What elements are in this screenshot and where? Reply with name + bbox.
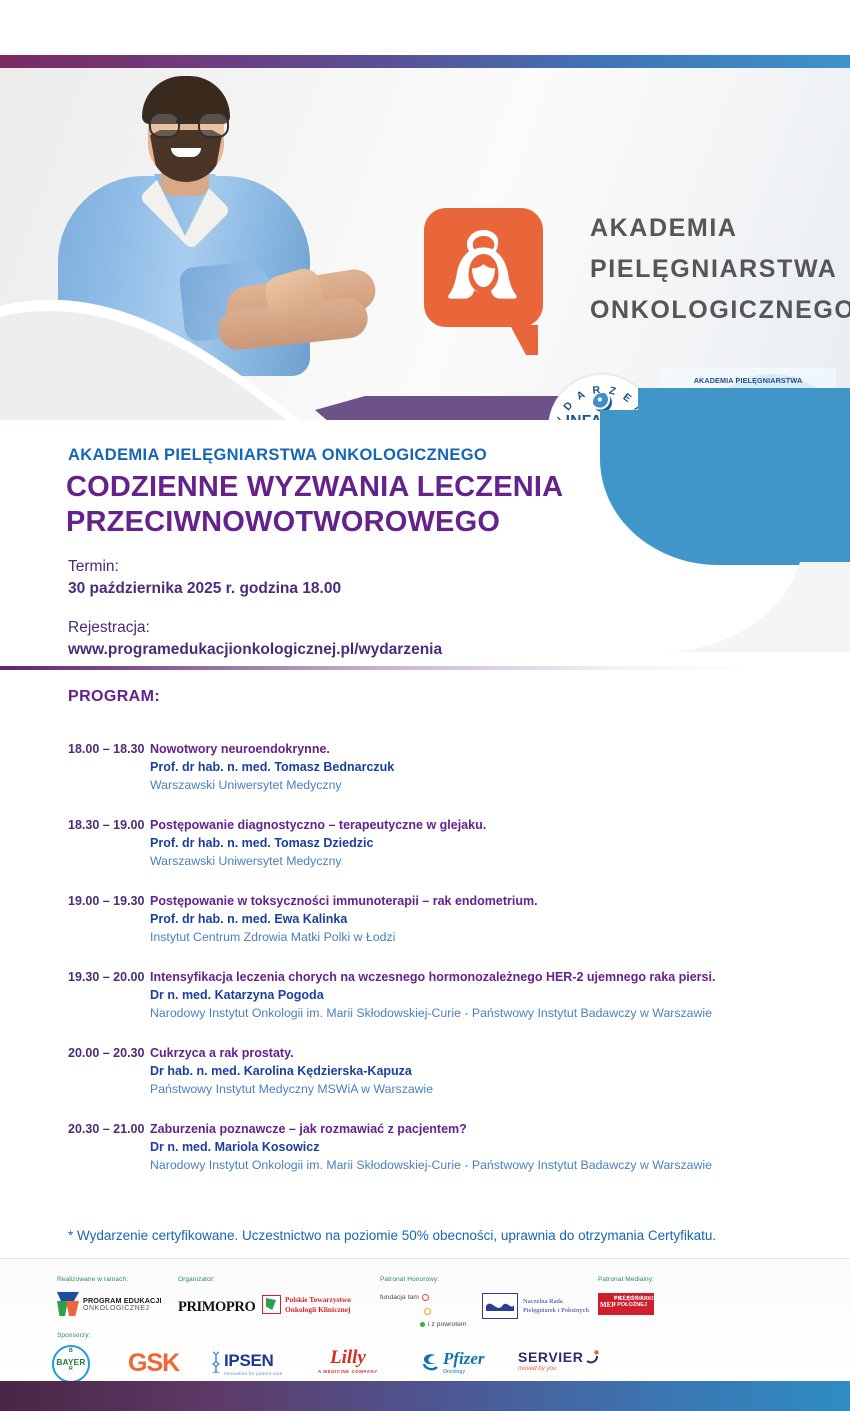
- logo-magazyn-pielegniarki: MEP M A G A Z Y N PIELĘGNIARKI I POŁOŻNE…: [598, 1293, 654, 1315]
- agenda-row: 20.30 – 21.00 Zaburzenia poznawcze – jak…: [0, 1120, 850, 1174]
- footer-partners: Realizowane w ramach: Organizator: Patro…: [0, 1259, 850, 1381]
- bottom-gradient-bar: [0, 1381, 850, 1411]
- sponsor-gsk: GSK: [128, 1349, 179, 1378]
- agenda-topic: Intensyfikacja leczenia chorych na wczes…: [150, 968, 836, 986]
- sponsor-lilly: Lilly A MEDICINE COMPANY: [318, 1347, 378, 1374]
- bayer-top-letter: B: [69, 1349, 73, 1355]
- ipsen-tagline: Innovation for patient care: [224, 1371, 283, 1376]
- nurse-glyph-icon: [424, 208, 543, 327]
- ptok-mark-icon: [262, 1295, 281, 1314]
- servier-swoosh-icon: [586, 1350, 600, 1365]
- hero-banner: AKADEMIA PIELĘGNIARSTWA ONKOLOGICZNEGO A…: [0, 68, 850, 420]
- agenda-topic: Nowotwory neuroendokrynne.: [150, 740, 836, 758]
- event-headline: CODZIENNE WYZWANIA LECZENIA PRZECIWNOWOT…: [66, 470, 706, 540]
- agenda-time: 18.30 – 19.00: [0, 816, 150, 870]
- certification-footnote: * Wydarzenie certyfikowane. Uczestnictwo…: [68, 1228, 716, 1243]
- speech-bubble-tail-icon: [510, 325, 538, 355]
- fundacja-dot-red-icon: [422, 1294, 429, 1301]
- logo-program-edukacji-onkologicznej: PROGRAM EDUKACJI ONKOLOGICZNEJ: [57, 1292, 162, 1316]
- program-heading: PROGRAM:: [68, 688, 160, 706]
- agenda-speaker: Prof. dr hab. n. med. Ewa Kalinka: [150, 910, 836, 928]
- event-eyebrow: AKADEMIA PIELĘGNIARSTWA ONKOLOGICZNEGO: [68, 446, 487, 465]
- registration-label: Rejestracja:: [68, 617, 708, 639]
- agenda-affiliation: Instytut Centrum Zdrowia Matki Polki w Ł…: [150, 928, 836, 946]
- nurse-speech-bubble-icon: [424, 208, 543, 327]
- date-label: Termin:: [68, 556, 708, 578]
- caption-honorary: Patronat Honorowy:: [380, 1276, 439, 1283]
- agenda-speaker: Dr n. med. Katarzyna Pogoda: [150, 986, 836, 1004]
- caption-framework: Realizowane w ramach:: [57, 1276, 128, 1283]
- agenda-topic: Postępowanie diagnostyczno – terapeutycz…: [150, 816, 836, 834]
- bayer-bottom-letter: R: [69, 1367, 73, 1373]
- agenda-affiliation: Narodowy Instytut Onkologii im. Marii Sk…: [150, 1156, 836, 1174]
- agenda-affiliation: Warszawski Uniwersytet Medyczny: [150, 852, 836, 870]
- fundacja-dot-yellow-icon: [424, 1308, 431, 1315]
- logo-naczelna-rada: Naczelna Rada Pielęgniarek i Położnych: [482, 1293, 589, 1319]
- agenda-time: 19.00 – 19.30: [0, 892, 150, 946]
- brand-title-line-2: PIELĘGNIARSTWA: [590, 249, 850, 290]
- logo-primopro: PRIMOPRO: [178, 1299, 255, 1316]
- agenda-time: 18.00 – 18.30: [0, 740, 150, 794]
- agenda-speaker: Dr n. med. Mariola Kosowicz: [150, 1138, 836, 1156]
- fundacja-dot-green-icon: [420, 1322, 425, 1327]
- event-meta: Termin: 30 października 2025 r. godzina …: [68, 556, 708, 661]
- lilly-tagline: A MEDICINE COMPANY: [318, 1369, 378, 1374]
- event-poster: AKADEMIA PIELĘGNIARSTWA ONKOLOGICZNEGO A…: [0, 0, 850, 1411]
- caption-organizer: Organizator:: [178, 1276, 215, 1283]
- brand-logo: [424, 208, 543, 327]
- agenda-topic: Zaburzenia poznawcze – jak rozmawiać z p…: [150, 1120, 836, 1138]
- sponsor-ipsen: IPSEN Innovation for patient care: [210, 1351, 283, 1376]
- registration-url[interactable]: www.programedukacjionkologicznej.pl/wyda…: [68, 639, 708, 661]
- caption-media: Patronat Medialny:: [598, 1276, 654, 1283]
- sponsor-servier: SERVIER moved by you: [518, 1349, 600, 1372]
- lilly-name: Lilly: [318, 1347, 378, 1369]
- program-edukacji-line-2: ONKOLOGICZNEJ: [83, 1305, 162, 1312]
- naczelna-rada-line-2: Pielęgniarek i Położnych: [523, 1306, 589, 1315]
- agenda-row: 18.30 – 19.00 Postępowanie diagnostyczno…: [0, 816, 850, 870]
- brand-title: AKADEMIA PIELĘGNIARSTWA ONKOLOGICZNEGO: [590, 208, 850, 331]
- agenda-affiliation: Warszawski Uniwersytet Medyczny: [150, 776, 836, 794]
- ipsen-helix-icon: [210, 1351, 222, 1373]
- agenda-affiliation: Narodowy Instytut Onkologii im. Marii Sk…: [150, 1004, 836, 1022]
- program-edukacji-line-1: PROGRAM EDUKACJI: [83, 1296, 162, 1305]
- agenda-time: 19.30 – 20.00: [0, 968, 150, 1022]
- magazine-line-2: I POŁOŻNEJ: [614, 1302, 654, 1308]
- agenda-row: 19.30 – 20.00 Intensyfikacja leczenia ch…: [0, 968, 850, 1022]
- ptok-line-2: Onkologii Klinicznej: [285, 1305, 351, 1315]
- caption-sponsors: Sponsorzy:: [57, 1332, 91, 1339]
- magazine-mark-icon: MEP M A G A Z Y N PIELĘGNIARKI I POŁOŻNE…: [598, 1293, 654, 1315]
- brand-title-line-3: ONKOLOGICZNEGO: [590, 290, 850, 331]
- agenda-speaker: Prof. dr hab. n. med. Tomasz Bednarczuk: [150, 758, 836, 776]
- logo-fundacja-tam-i-z-powrotem: fundacja tam i z powrotem: [380, 1294, 467, 1328]
- agenda-topic: Cukrzyca a rak prostaty.: [150, 1044, 836, 1062]
- program-agenda: 18.00 – 18.30 Nowotwory neuroendokrynne.…: [0, 740, 850, 1196]
- pfizer-helix-icon: [420, 1352, 440, 1372]
- brand-title-line-1: AKADEMIA: [590, 208, 850, 249]
- agenda-time: 20.00 – 20.30: [0, 1044, 150, 1098]
- logo-ptok: Polskie Towarzystwo Onkologii Klinicznej: [262, 1295, 351, 1314]
- agenda-speaker: Dr hab. n. med. Karolina Kędzierska-Kapu…: [150, 1062, 836, 1080]
- naczelna-rada-line-1: Naczelna Rada: [523, 1297, 589, 1306]
- naczelna-rada-mark-icon: [482, 1293, 518, 1319]
- agenda-speaker: Prof. dr hab. n. med. Tomasz Dziedzic: [150, 834, 836, 852]
- pfizer-name: Pfizer: [443, 1349, 485, 1369]
- agenda-time: 20.30 – 21.00: [0, 1120, 150, 1174]
- bayer-cross-icon: B BAYER R: [52, 1345, 90, 1383]
- agenda-row: 19.00 – 19.30 Postępowanie w toksycznośc…: [0, 892, 850, 946]
- servier-tagline: moved by you: [518, 1365, 600, 1372]
- agenda-row: 20.00 – 20.30 Cukrzyca a rak prostaty. D…: [0, 1044, 850, 1098]
- fundacja-line-1: fundacja tam: [380, 1294, 419, 1301]
- agenda-affiliation: Państwowy Instytut Medyczny MSWiA w Wars…: [150, 1080, 836, 1098]
- sponsor-bayer: B BAYER R: [52, 1345, 90, 1383]
- date-value: 30 października 2025 r. godzina 18.00: [68, 578, 708, 600]
- agenda-topic: Postępowanie w toksyczności immunoterapi…: [150, 892, 836, 910]
- sponsor-pfizer: Pfizer Oncology: [420, 1349, 485, 1375]
- top-gradient-bar: [0, 55, 850, 68]
- pfizer-tagline: Oncology: [443, 1369, 485, 1375]
- servier-name: SERVIER: [518, 1349, 583, 1365]
- ipsen-name: IPSEN: [224, 1351, 283, 1371]
- section-divider: [0, 666, 850, 670]
- ptok-line-1: Polskie Towarzystwo: [285, 1295, 351, 1305]
- fundacja-line-2: i z powrotem: [428, 1321, 467, 1328]
- program-edukacji-mark-icon: [57, 1292, 79, 1316]
- agenda-row: 18.00 – 18.30 Nowotwory neuroendokrynne.…: [0, 740, 850, 794]
